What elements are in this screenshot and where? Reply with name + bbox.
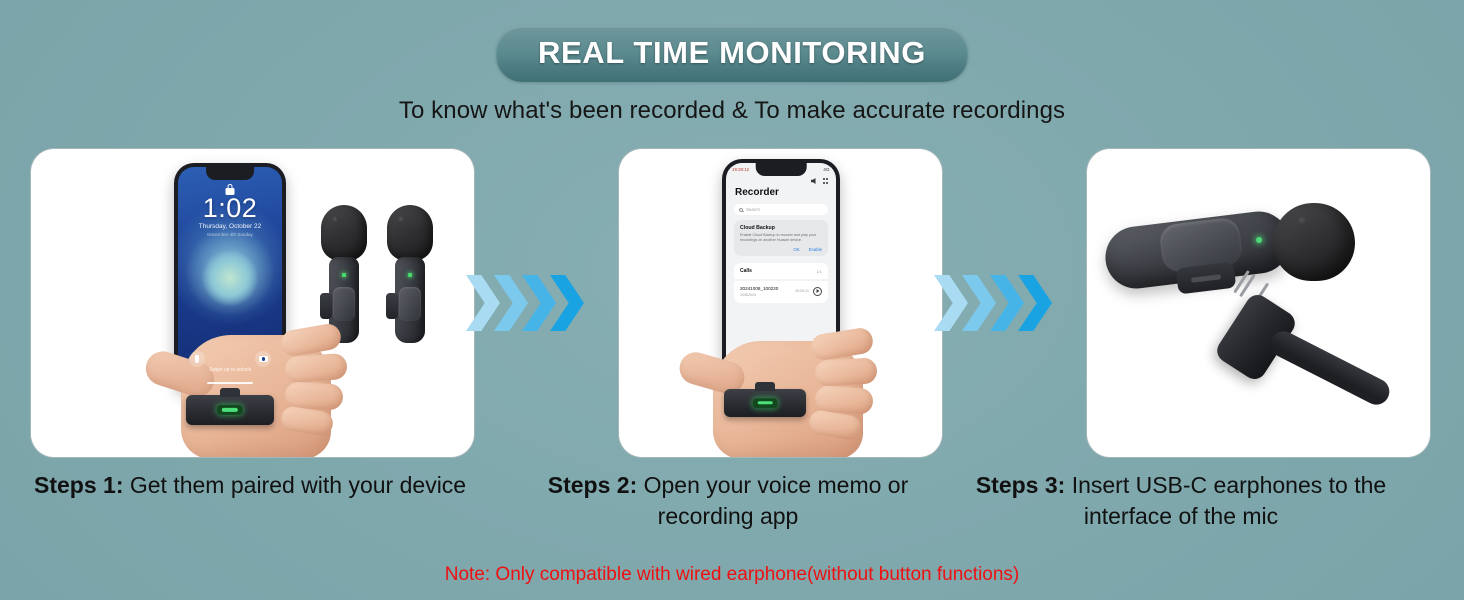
step-captions: Steps 1: Get them paired with your devic… (0, 470, 1464, 550)
search-placeholder: Search (746, 207, 760, 212)
section-title: Calls (740, 268, 752, 274)
cloud-backup-title: Cloud Backup (740, 225, 822, 231)
mic-windscreen (387, 205, 433, 261)
hand-holding-phone (135, 299, 355, 458)
app-title: Recorder (735, 187, 779, 198)
hand-holding-phone (677, 301, 892, 458)
lavalier-mic-right (383, 205, 437, 343)
step-2-caption: Steps 2: Open your voice memo or recordi… (518, 470, 938, 532)
swipe-hint: Swipe up to unlock (178, 367, 282, 373)
step-1-label: Steps 1: (34, 472, 123, 498)
usb-c-receiver (724, 389, 806, 417)
usb-c-plug-tab (755, 382, 775, 391)
enable-button[interactable]: Enable (809, 247, 822, 252)
status-signal: 4G (823, 167, 830, 172)
grid-menu-icon[interactable] (823, 178, 828, 183)
step-3-caption: Steps 3: Insert USB-C earphones to the i… (946, 470, 1416, 532)
finger (279, 322, 343, 358)
speaker-icon[interactable] (811, 178, 818, 184)
step-1-text: Get them paired with your device (130, 472, 466, 498)
mic-windscreen (321, 205, 367, 261)
home-indicator (207, 382, 253, 385)
page-title: REAL TIME MONITORING (538, 35, 926, 70)
compatibility-note: Note: Only compatible with wired earphon… (0, 564, 1464, 586)
step-1-card: 1:02 Thursday, October 22 November 4th S… (30, 148, 475, 458)
mic-button (399, 287, 421, 321)
step-1-caption: Steps 1: Get them paired with your devic… (18, 470, 518, 501)
phone-screen: 1:02 Thursday, October 22 November 4th S… (178, 167, 282, 389)
recording-meta: 20241008_100220 10/8/2024 (740, 286, 778, 297)
search-icon (739, 208, 743, 212)
earphone-cable (1266, 327, 1394, 409)
usb-c-plug-tab (220, 388, 240, 397)
calls-section-header[interactable]: Calls 1/1 (734, 263, 828, 279)
recording-right: 00:00:11 (795, 287, 822, 296)
cloud-backup-card: Cloud Backup Enable Cloud Backup to reco… (734, 220, 828, 256)
mic-clip (386, 293, 398, 319)
mic-windscreen (1273, 203, 1355, 281)
ok-button[interactable]: OK (793, 247, 799, 252)
recording-date: 10/8/2024 (740, 293, 778, 297)
progress-arrows-2 (941, 148, 1086, 458)
phone-notch (206, 167, 254, 180)
step-3-card (1086, 148, 1431, 458)
finger (284, 353, 348, 383)
finger (814, 357, 877, 386)
step-3-text: Insert USB-C earphones to the interface … (1072, 472, 1387, 529)
step-2-label: Steps 2: (548, 472, 637, 498)
recording-duration: 00:00:11 (795, 289, 809, 293)
step-2-card: 19:28:12 4G Recorder Search Cloud Backup (618, 148, 943, 458)
recording-name: 20241008_100220 (740, 286, 778, 291)
mic-body (395, 257, 425, 343)
progress-arrows-1 (473, 148, 618, 458)
receiver-led (753, 398, 778, 408)
flashlight-icon[interactable] (189, 351, 205, 367)
steps-panel-row: 1:02 Thursday, October 22 November 4th S… (0, 148, 1464, 458)
mic-led-indicator (342, 273, 346, 277)
usb-c-receiver (186, 395, 274, 425)
cloud-backup-body: Enable Cloud Backup to recover and play … (740, 233, 822, 244)
play-icon[interactable] (813, 287, 822, 296)
lockscreen-actions (178, 351, 282, 367)
phone-notch (756, 163, 807, 176)
finger (809, 326, 874, 361)
lockscreen-time: 1:02 (178, 193, 282, 224)
lockscreen-date: Thursday, October 22 (178, 223, 282, 230)
step-3-label: Steps 3: (976, 472, 1065, 498)
lockscreen-date-secondary: November 4th Sunday (178, 232, 282, 237)
mic-led-indicator (408, 273, 412, 277)
phone-lockscreen: 1:02 Thursday, October 22 November 4th S… (174, 163, 286, 393)
camera-icon[interactable] (255, 351, 271, 367)
receiver-led (217, 405, 243, 415)
section-count: 1/1 (816, 269, 822, 274)
header: REAL TIME MONITORING To know what's been… (0, 0, 1464, 125)
app-header-icons (811, 178, 828, 184)
page-subtitle: To know what's been recorded & To make a… (0, 97, 1464, 125)
step-2-text: Open your voice memo or recording app (644, 472, 909, 529)
mic-led-indicator (1256, 237, 1262, 243)
status-time: 19:28:12 (732, 167, 749, 172)
search-input[interactable]: Search (734, 204, 828, 215)
recording-list-item[interactable]: 20241008_100220 10/8/2024 00:00:11 (734, 281, 828, 303)
usb-c-plug (1217, 277, 1397, 417)
cloud-backup-actions: OK Enable (740, 247, 822, 252)
title-banner: REAL TIME MONITORING (496, 26, 968, 82)
